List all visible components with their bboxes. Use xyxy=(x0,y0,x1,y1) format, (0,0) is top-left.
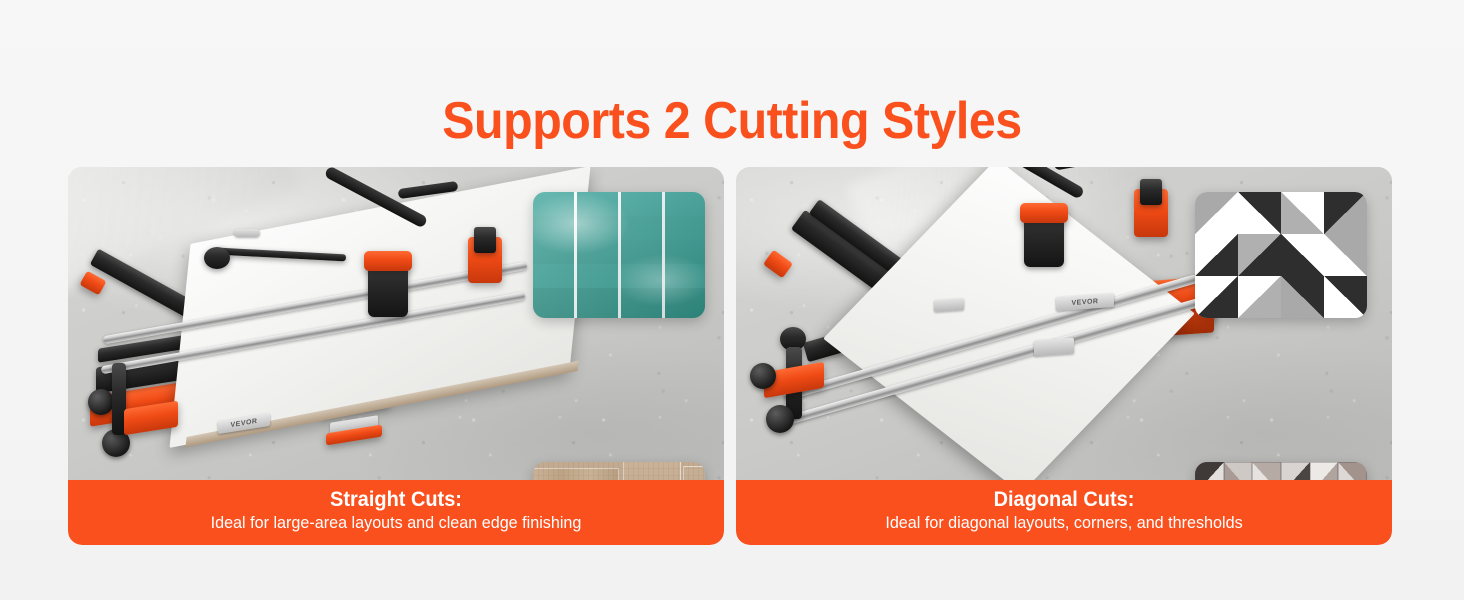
straight-cut-photo: VEVOR xyxy=(68,167,724,480)
tile-stop-plate xyxy=(234,229,260,237)
caption-straight-cuts: Straight Cuts: Ideal for large-area layo… xyxy=(68,480,724,545)
support-plate xyxy=(1034,338,1074,357)
caption-subtitle: Ideal for diagonal layouts, corners, and… xyxy=(752,512,1375,534)
caption-diagonal-cuts: Diagonal Cuts: Ideal for diagonal layout… xyxy=(736,480,1392,545)
panel-straight-cuts[interactable]: VEVOR xyxy=(68,167,724,545)
wheel-rear xyxy=(750,363,776,389)
page-title: Supports 2 Cutting Styles xyxy=(51,92,1413,150)
swatch-mosaic-triangle-tile xyxy=(1195,462,1367,480)
cutting-head-clamp xyxy=(1020,203,1068,223)
cutting-head-clamp xyxy=(364,251,412,271)
swatch-teal-subway-tile xyxy=(533,192,705,318)
wheel-front xyxy=(766,405,794,433)
panel-diagonal-cuts[interactable]: VEVOR xyxy=(736,167,1392,545)
lever-grip xyxy=(1054,167,1119,170)
diagonal-cut-photo: VEVOR xyxy=(736,167,1392,480)
caption-title: Straight Cuts: xyxy=(84,487,707,512)
wood-grain-horizontal xyxy=(533,462,705,480)
end-clamp-black xyxy=(1140,179,1162,205)
swatch-wood-herringbone-tile xyxy=(533,462,705,480)
promo-banner: Supports 2 Cutting Styles xyxy=(0,0,1464,600)
scale-plate xyxy=(934,298,964,312)
cutter-fence-cap xyxy=(80,271,107,296)
swatch-geometric-triangle-tile xyxy=(1195,192,1367,318)
end-clamp-black xyxy=(474,227,496,253)
caption-subtitle: Ideal for large-area layouts and clean e… xyxy=(84,512,707,534)
subway-gloss xyxy=(533,192,705,318)
breaker-pivot xyxy=(204,247,230,269)
bed-rail-cap-top xyxy=(763,250,793,279)
caption-title: Diagonal Cuts: xyxy=(752,487,1375,512)
wheel-rear xyxy=(88,389,114,415)
